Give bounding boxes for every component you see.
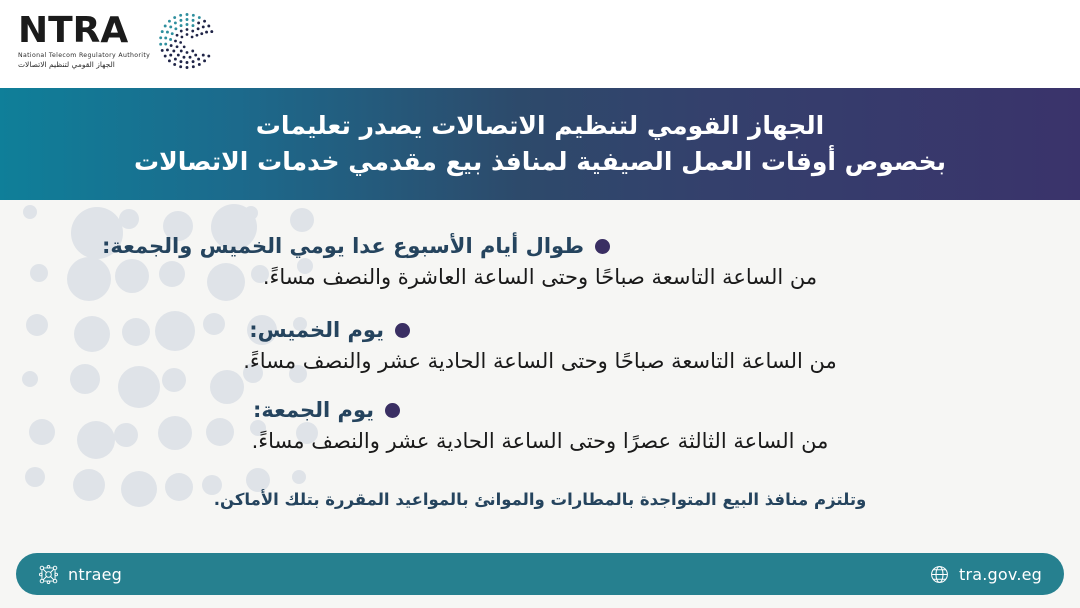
- footer-bar: ntraeg tra.gov.eg: [16, 553, 1064, 595]
- schedule-heading-row: طوال أيام الأسبوع عدا يومي الخميس والجمع…: [40, 234, 1040, 258]
- schedule-heading-row: يوم الخميس:: [40, 318, 1040, 342]
- globe-icon: [929, 564, 950, 585]
- schedule-heading-text: طوال أيام الأسبوع عدا يومي الخميس والجمع…: [102, 234, 584, 258]
- ntra-logo: NTRA National Telecom Regulatory Authori…: [18, 10, 218, 72]
- footer-social-handle: ntraeg: [68, 565, 122, 584]
- airports-ports-note: وتلتزم منافذ البيع المتواجدة بالمطارات و…: [40, 490, 1040, 509]
- schedule-hours-text: من الساعة التاسعة صباحًا وحتى الساعة الح…: [40, 349, 1040, 373]
- headline-line-2: بخصوص أوقات العمل الصيفية لمنافذ بيع مقد…: [134, 144, 946, 180]
- schedule-heading-row: يوم الجمعة:: [40, 398, 1040, 422]
- footer-website[interactable]: tra.gov.eg: [929, 564, 1042, 585]
- schedule-block-friday: يوم الجمعة: من الساعة الثالثة عصرًا وحتى…: [40, 398, 1040, 453]
- logo-text-block: NTRA National Telecom Regulatory Authori…: [18, 13, 150, 69]
- schedule-content: طوال أيام الأسبوع عدا يومي الخميس والجمع…: [0, 200, 1080, 540]
- logo-subtitle-english: National Telecom Regulatory Authority: [18, 52, 150, 59]
- schedule-block-thursday: يوم الخميس: من الساعة التاسعة صباحًا وحت…: [40, 318, 1040, 373]
- poster-canvas: NTRA National Telecom Regulatory Authori…: [0, 0, 1080, 608]
- schedule-heading-text: يوم الجمعة:: [253, 398, 374, 422]
- logo-header-strip: NTRA National Telecom Regulatory Authori…: [0, 0, 1080, 88]
- schedule-hours-text: من الساعة الثالثة عصرًا وحتى الساعة الحا…: [40, 429, 1040, 453]
- bullet-icon: [595, 239, 610, 254]
- bullet-icon: [385, 403, 400, 418]
- network-nodes-icon: [38, 564, 59, 585]
- schedule-block-weekdays: طوال أيام الأسبوع عدا يومي الخميس والجمع…: [40, 234, 1040, 289]
- headline-banner: الجهاز القومي لتنظيم الاتصالات يصدر تعلي…: [0, 88, 1080, 200]
- ntra-spiral-dots-logo-icon: [156, 10, 218, 72]
- footer-website-url: tra.gov.eg: [959, 565, 1042, 584]
- logo-wordmark: NTRA: [18, 13, 128, 49]
- schedule-hours-text: من الساعة التاسعة صباحًا وحتى الساعة الع…: [40, 265, 1040, 289]
- bullet-icon: [395, 323, 410, 338]
- footer-social[interactable]: ntraeg: [38, 564, 122, 585]
- schedule-heading-text: يوم الخميس:: [249, 318, 384, 342]
- headline-line-1: الجهاز القومي لتنظيم الاتصالات يصدر تعلي…: [256, 108, 825, 144]
- logo-subtitle-arabic: الجهاز القومي لتنظيم الاتصالات: [18, 60, 115, 69]
